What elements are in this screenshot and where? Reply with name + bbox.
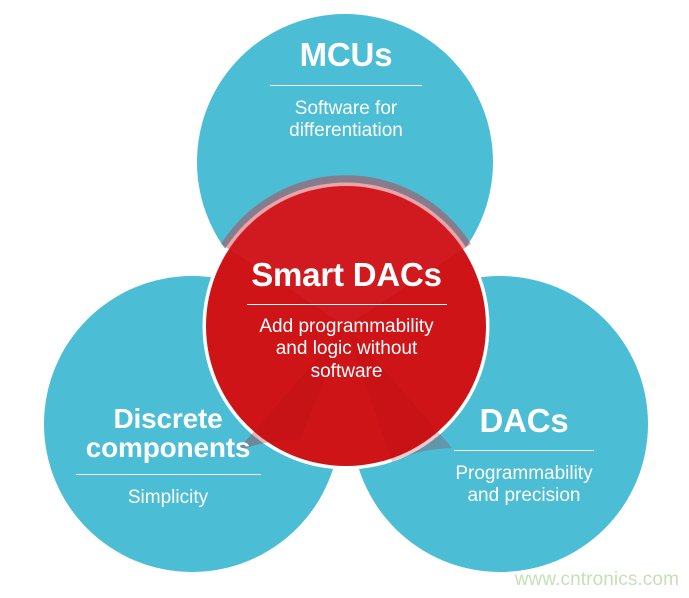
lobe-discrete-components-divider [76,474,261,475]
lobe-discrete-components[interactable]: Discrete components Simplicity [52,404,284,510]
core-title: Smart DACs [206,258,487,293]
lobe-mcus-divider [270,85,422,86]
lobe-mcus-title: MCUs [237,38,455,73]
lobe-dacs-divider [454,450,594,451]
core-divider [247,304,447,305]
core-smart-dacs[interactable]: Smart DACs Add programmability and logic… [206,258,487,384]
watermark-text: www.cntronics.com [515,569,679,591]
lobe-mcus[interactable]: MCUs Software for differentiation [237,38,455,143]
lobe-mcus-subtitle: Software for differentiation [237,98,455,144]
lobe-discrete-components-subtitle: Simplicity [52,487,284,510]
diagram-canvas: MCUs Software for differentiation Discre… [0,0,689,598]
lobe-dacs[interactable]: DACs Programmability and precision [410,404,638,508]
core-subtitle: Add programmability and logic without so… [206,316,487,384]
lobe-dacs-title: DACs [410,404,638,439]
lobe-discrete-components-title: Discrete components [52,404,284,463]
lobe-dacs-subtitle: Programmability and precision [410,463,638,509]
